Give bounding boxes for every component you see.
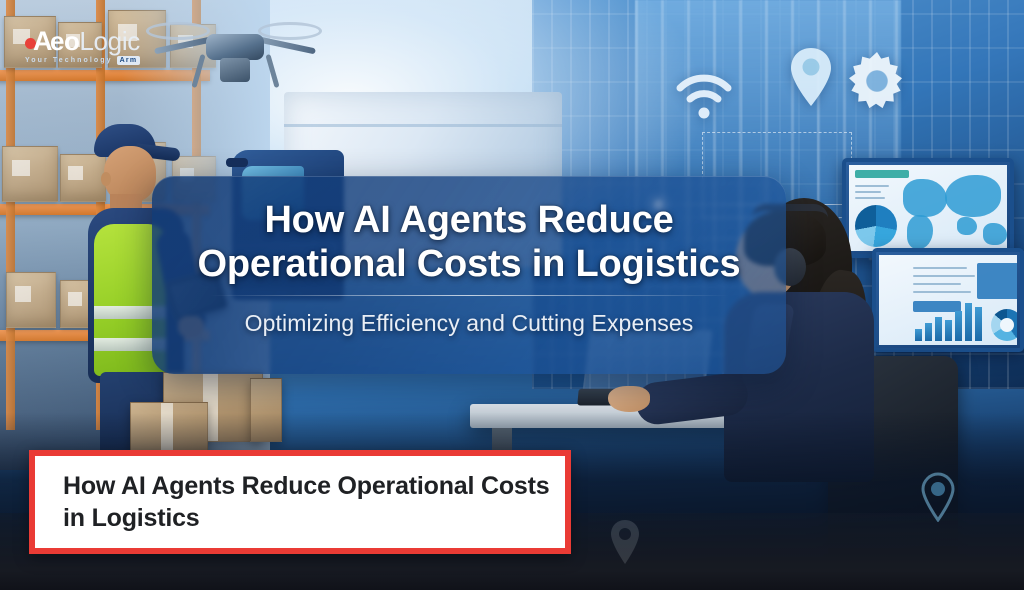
logo-text-eo: eo — [50, 28, 79, 54]
floor-location-pin-right — [920, 472, 956, 527]
article-caption-card[interactable]: How AI Agents Reduce Operational Costs i… — [29, 450, 571, 554]
aeologic-logo[interactable]: A eo Logic Your Technology Arm — [25, 28, 140, 68]
logo-letter-a: A — [33, 28, 53, 54]
hero-divider — [209, 295, 729, 296]
hero-subtitle: Optimizing Efficiency and Cutting Expens… — [245, 310, 694, 337]
gear-icon — [848, 52, 906, 110]
article-caption-title: How AI Agents Reduce Operational Costs i… — [35, 470, 565, 535]
floor-location-pin-left — [608, 518, 642, 571]
logo-text-logic: Logic — [79, 28, 140, 54]
delivery-drone — [150, 4, 320, 100]
logo-tagline-chip: Arm — [117, 56, 141, 65]
hero-title-line1: How AI Agents Reduce — [264, 198, 673, 242]
logo-tagline: Your Technology — [25, 57, 113, 64]
hero-title-panel: How AI Agents Reduce Operational Costs i… — [152, 176, 786, 374]
wifi-icon — [674, 72, 734, 122]
hero-banner: How AI Agents Reduce Operational Costs i… — [0, 0, 1024, 590]
logo-mark-icon: A — [25, 28, 49, 54]
location-pin-icon — [789, 46, 833, 108]
hero-title-line2: Operational Costs in Logistics — [198, 242, 741, 286]
